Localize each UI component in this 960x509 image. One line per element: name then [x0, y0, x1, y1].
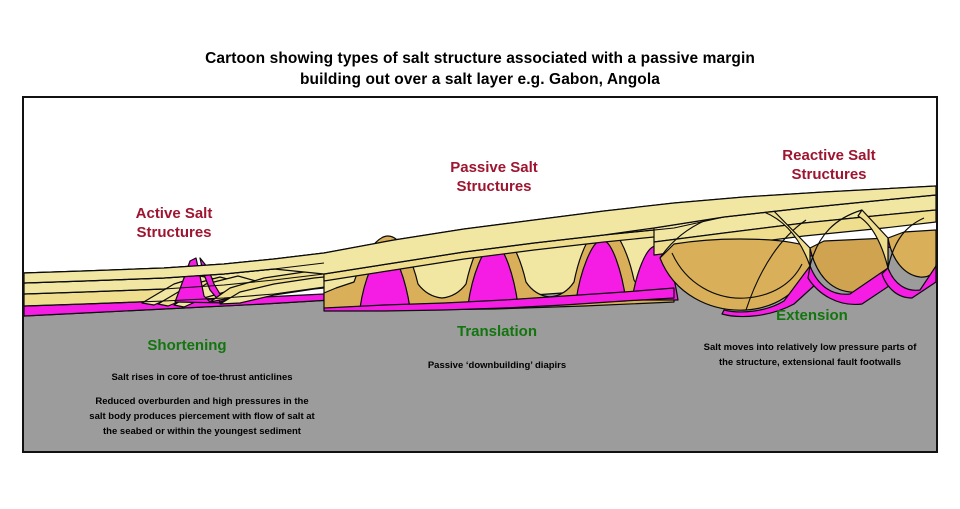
diagram-frame: Active Salt Structures Passive Salt Stru… — [22, 96, 938, 453]
title-line-2: building out over a salt layer e.g. Gabo… — [0, 69, 960, 90]
title-line-1: Cartoon showing types of salt structure … — [0, 48, 960, 69]
salt-structure-cross-section — [24, 98, 936, 451]
figure-title: Cartoon showing types of salt structure … — [0, 48, 960, 90]
